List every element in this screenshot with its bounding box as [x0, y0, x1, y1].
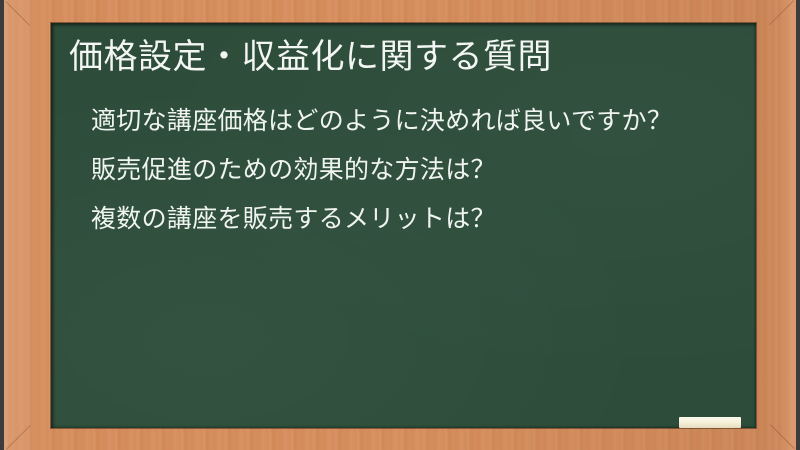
question-list: 適切な講座価格はどのように決めれば良いですか？ 販売促進のための効果的な方法は？… [91, 103, 731, 250]
slide-canvas: 価格設定・収益化に関する質問 適切な講座価格はどのように決めれば良いですか？ 販… [0, 0, 800, 450]
question-item: 販売促進のための効果的な方法は？ [91, 152, 731, 188]
chalkboard-surface: 価格設定・収益化に関する質問 適切な講座価格はどのように決めれば良いですか？ 販… [51, 23, 756, 428]
slide-title: 価格設定・収益化に関する質問 [69, 35, 739, 79]
chalk-stick-icon [679, 417, 741, 428]
question-item: 複数の講座を販売するメリットは？ [91, 201, 731, 237]
chalkboard-wooden-frame: 価格設定・収益化に関する質問 適切な講座価格はどのように決めれば良いですか？ 販… [4, 0, 796, 450]
question-item: 適切な講座価格はどのように決めれば良いですか？ [91, 103, 731, 139]
